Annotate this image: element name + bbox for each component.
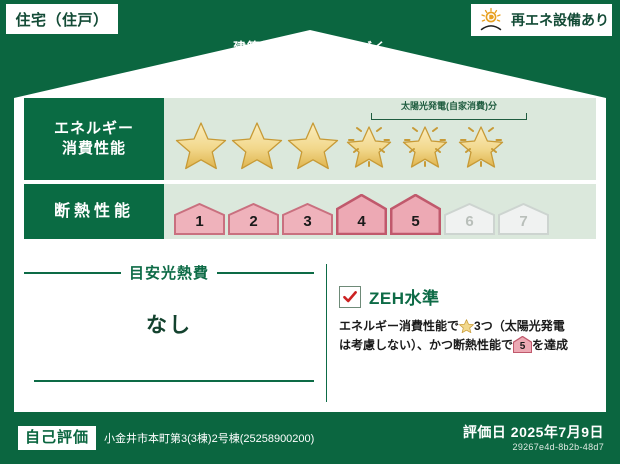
insulation-grade-5: 5 <box>390 194 441 235</box>
solar-star-icon <box>454 118 508 174</box>
insulation-grade-3: 3 <box>282 203 333 235</box>
inline-grade-number: 5 <box>513 341 532 353</box>
energy-performance-label: 住宅（住戸） 再エネ設備あり 建築物省エネ法に基づく <box>0 0 620 464</box>
zeh-desc-part3: を達成 <box>532 338 568 352</box>
utility-cost-heading: 目安光熱費 <box>24 262 314 283</box>
grade-number: 3 <box>282 213 333 230</box>
dwelling-type-badge: 住宅（住戸） <box>6 4 118 34</box>
insulation-grade-4: 4 <box>336 194 387 235</box>
grade-number: 2 <box>228 213 279 230</box>
energy-performance-value: 太陽光発電(自家消費)分 <box>164 98 596 180</box>
insulation-performance-label-box: 断熱性能 <box>24 184 164 239</box>
dwelling-type-label: 住宅（住戸） <box>15 9 108 30</box>
insulation-grade-scale: 1 2 3 4 5 <box>174 194 549 239</box>
utility-cost-column: 目安光熱費 なし <box>24 262 326 404</box>
footer-right: 評価日 2025年7月9日 29267e4d-8b2b-48d7 <box>463 423 620 454</box>
solar-star-icon <box>342 118 396 174</box>
zeh-title: ZEH水準 <box>369 284 440 309</box>
bottom-section: 目安光熱費 なし ZEH水準 エネルギー消費性能で3つ（太陽光発電 は考慮しない… <box>24 262 596 404</box>
performance-section: エネルギー 消費性能 太陽光発電(自家消費)分 <box>24 98 596 256</box>
insulation-grade-2: 2 <box>228 203 279 235</box>
star-icon <box>230 118 284 174</box>
label-title-block: 建築物省エネ法に基づく 省エネ性能ラベル <box>0 36 620 88</box>
insulation-performance-row: 断熱性能 1 2 3 <box>24 184 596 239</box>
insulation-performance-value: 1 2 3 4 5 <box>164 184 596 239</box>
utility-cost-value: なし <box>24 309 314 339</box>
heading-rule-right <box>217 272 314 274</box>
building-name: 小金井市本町第3(3棟)2号棟(25258900200) <box>104 430 314 446</box>
zeh-desc-star-count: 3つ（太陽光発電 <box>474 319 565 333</box>
renewable-equipment-badge: 再エネ設備あり <box>471 4 612 36</box>
grade-number: 5 <box>390 213 441 230</box>
star-icon <box>286 118 340 174</box>
zeh-desc-part1: エネルギー消費性能で <box>339 319 459 333</box>
solar-star-icon <box>398 118 452 174</box>
label-footer: 自己評価 小金井市本町第3(3棟)2号棟(25258900200) 評価日 20… <box>0 412 620 464</box>
insulation-label: 断熱性能 <box>54 202 134 222</box>
zeh-desc-part2: は考慮しない）、かつ断熱性能で <box>339 338 513 352</box>
label-main-title: 省エネ性能ラベル <box>0 56 620 84</box>
star-icon <box>174 118 228 174</box>
insulation-grade-7: 7 <box>498 203 549 235</box>
energy-label-line2: 消費性能 <box>62 139 126 159</box>
inline-grade-icon: 5 <box>513 336 532 353</box>
utility-cost-heading-text: 目安光熱費 <box>129 262 209 283</box>
grade-number: 1 <box>174 213 225 230</box>
zeh-column: ZEH水準 エネルギー消費性能で3つ（太陽光発電 は考慮しない）、かつ断熱性能で… <box>339 262 596 404</box>
self-evaluation-badge: 自己評価 <box>18 426 96 450</box>
evaluation-date: 評価日 2025年7月9日 <box>463 423 604 441</box>
energy-label-line1: エネルギー <box>54 119 134 139</box>
label-subtitle: 建築物省エネ法に基づく <box>0 36 620 56</box>
evaluation-id: 29267e4d-8b2b-48d7 <box>463 441 604 454</box>
grade-number: 7 <box>498 213 549 230</box>
grade-number: 6 <box>444 213 495 230</box>
heading-rule-left <box>24 272 121 274</box>
insulation-grade-1: 1 <box>174 203 225 235</box>
utility-cost-bottom-rule <box>34 380 314 382</box>
footer-left: 自己評価 小金井市本町第3(3棟)2号棟(25258900200) <box>0 426 463 450</box>
star-rating <box>174 118 508 180</box>
check-icon <box>339 286 361 308</box>
insulation-grade-6: 6 <box>444 203 495 235</box>
solar-bracket-label: 太陽光発電(自家消費)分 <box>369 99 529 112</box>
energy-performance-row: エネルギー 消費性能 太陽光発電(自家消費)分 <box>24 98 596 180</box>
sun-solar-icon <box>478 7 508 33</box>
zeh-heading: ZEH水準 <box>339 284 596 309</box>
grade-number: 4 <box>336 213 387 230</box>
inline-star-icon <box>459 319 474 334</box>
renewable-equipment-label: 再エネ設備あり <box>511 10 609 30</box>
energy-performance-label-box: エネルギー 消費性能 <box>24 98 164 180</box>
column-divider <box>326 264 327 402</box>
zeh-description: エネルギー消費性能で3つ（太陽光発電 は考慮しない）、かつ断熱性能で5を達成 <box>339 317 596 355</box>
